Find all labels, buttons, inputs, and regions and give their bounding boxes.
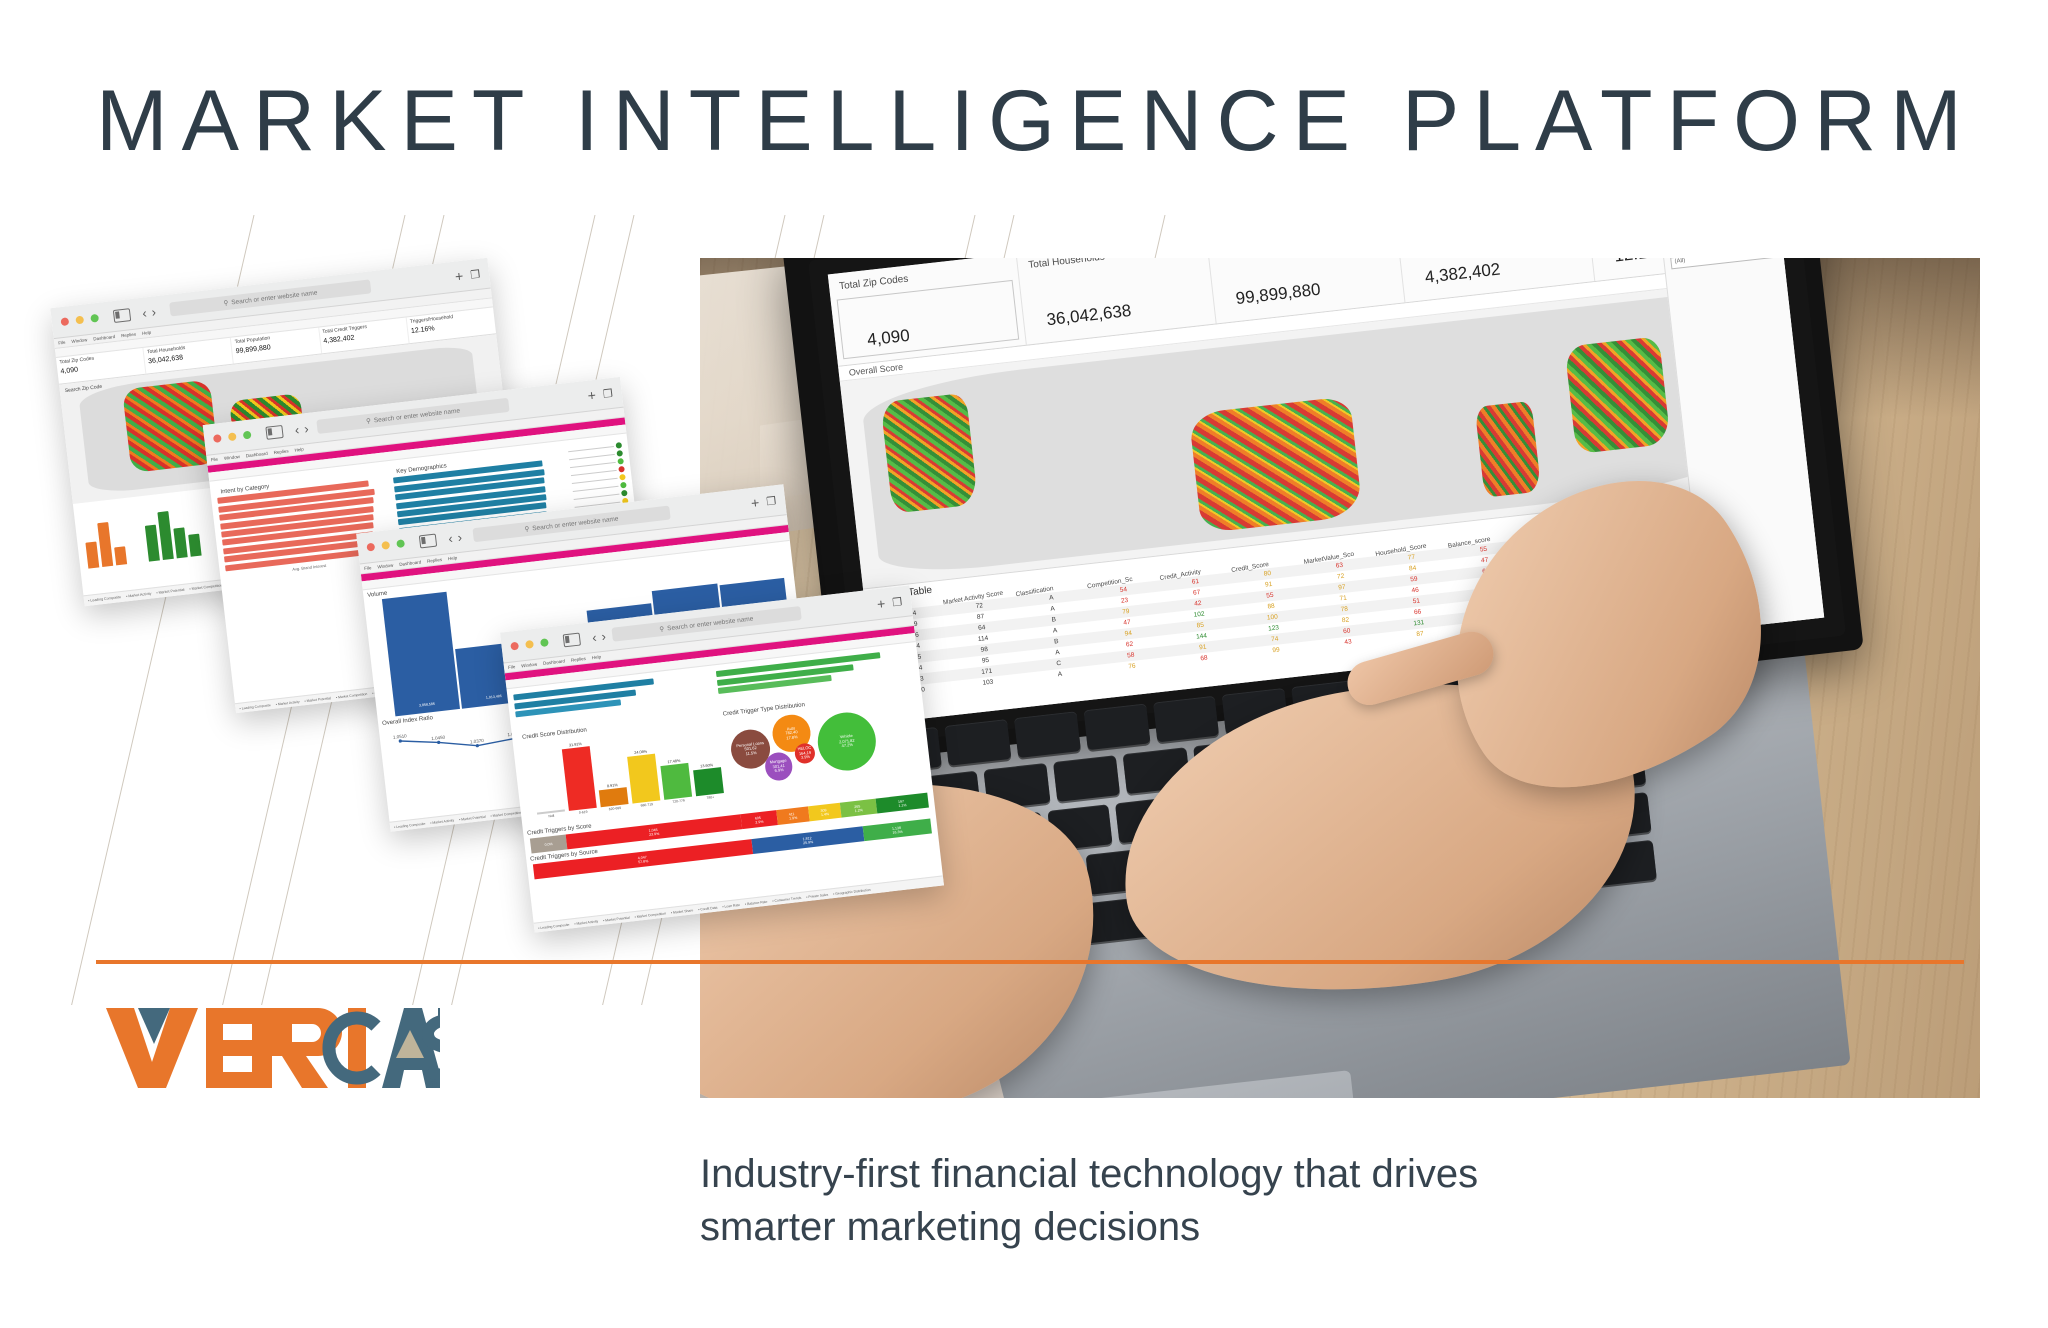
bar[interactable] xyxy=(562,746,597,811)
legend-item[interactable]: ▪ Private Sales xyxy=(806,892,828,899)
dot-marker[interactable] xyxy=(621,490,628,497)
stack-segment[interactable]: 0.0% xyxy=(530,834,567,853)
dot-marker[interactable] xyxy=(615,442,622,449)
legend-item[interactable]: ▪ Market Activity xyxy=(275,699,299,706)
map-cluster-southeast xyxy=(1564,336,1671,454)
menu-dashboard[interactable]: Dashboard xyxy=(543,658,565,665)
menu-replies[interactable]: Replies xyxy=(273,448,288,455)
menu-dashboard[interactable]: Dashboard xyxy=(93,334,115,341)
kpi-value: 36,042,638 xyxy=(1046,301,1133,330)
bar-column[interactable]: 17.48%720-779 xyxy=(656,724,693,805)
kpi-value: 4,382,402 xyxy=(1424,260,1501,288)
bubble-label: HELOC164,193.9% xyxy=(797,746,812,761)
dashboard-card-4[interactable]: ‹› ⚲ Search or enter website name + ❐ Fi… xyxy=(500,585,944,932)
menu-replies[interactable]: Replies xyxy=(427,557,442,564)
bar[interactable] xyxy=(599,787,629,807)
omnibox-placeholder: Search or enter website name xyxy=(667,615,754,632)
legend-item[interactable]: ▪ Market Share xyxy=(671,908,694,915)
menu-file[interactable]: File xyxy=(58,340,66,346)
tabs-icon[interactable]: ❐ xyxy=(602,386,613,400)
search-icon: ⚲ xyxy=(366,417,372,425)
svg-text:1.0450: 1.0450 xyxy=(431,735,446,742)
bar-category-label: 680-719 xyxy=(640,802,653,807)
close-icon[interactable] xyxy=(510,642,519,651)
new-tab-button[interactable]: + xyxy=(454,268,464,285)
new-tab-button[interactable]: + xyxy=(750,494,760,511)
bubble-label: Auto782,4017.8% xyxy=(785,726,799,741)
stack-segment[interactable]: 265 1.2% xyxy=(840,799,877,818)
menu-help[interactable]: Help xyxy=(448,555,458,561)
minimize-icon[interactable] xyxy=(381,541,390,550)
menu-help[interactable]: Help xyxy=(592,654,602,660)
bar[interactable] xyxy=(693,767,724,796)
new-tab-button[interactable]: + xyxy=(876,595,886,612)
divider-rule xyxy=(96,960,1964,964)
menu-replies[interactable]: Replies xyxy=(571,656,586,663)
page-title: MARKET INTELLIGENCE PLATFORM xyxy=(96,78,1976,164)
bar[interactable] xyxy=(660,763,692,800)
dot-marker[interactable] xyxy=(620,482,627,489)
zoom-icon[interactable] xyxy=(396,539,405,548)
omnibox-placeholder: Search or enter website name xyxy=(532,515,619,532)
kpi-label: Total Households xyxy=(1028,258,1198,271)
legend-item[interactable]: ▪ Market Competition xyxy=(634,911,666,919)
nav-arrows[interactable]: ‹› xyxy=(141,303,161,320)
menu-window[interactable]: Window xyxy=(71,337,87,344)
filter-table-score-color[interactable]: Table_Score_Color (All) xyxy=(1669,258,1778,269)
vericast-logo-svg: ® xyxy=(100,1000,440,1096)
legend-item[interactable]: ▪ Loan Rate xyxy=(722,902,740,908)
bubble[interactable]: Mortgage301,416.9% xyxy=(763,751,794,782)
omnibox-placeholder: Search or enter website name xyxy=(231,289,318,306)
close-icon[interactable] xyxy=(60,317,69,326)
search-icon: ⚲ xyxy=(524,525,530,533)
map-cluster-texas xyxy=(1188,396,1362,534)
dot-marker[interactable] xyxy=(616,450,623,457)
menu-file[interactable]: File xyxy=(210,457,218,463)
bar-value-label: 3,858,586 xyxy=(394,699,459,710)
stack-segment[interactable]: 309 1.4% xyxy=(808,803,842,822)
legend-item[interactable]: ▪ Market Potential xyxy=(603,915,630,922)
zoom-icon[interactable] xyxy=(540,638,549,647)
trademark-symbol: ® xyxy=(430,1080,438,1091)
stack-segment[interactable]: 605 2.9% xyxy=(740,810,777,829)
nav-arrows[interactable]: ‹› xyxy=(294,420,314,437)
bar-column[interactable]: 31.91%0-619 xyxy=(561,735,598,816)
menu-dashboard[interactable]: Dashboard xyxy=(399,559,421,566)
legend-item[interactable]: ▪ Market Activity xyxy=(574,919,598,926)
bubble-label: Vehicle2,071,8247.2% xyxy=(838,734,855,749)
legend-item[interactable]: ▪ Market Potential xyxy=(156,588,185,595)
dot-marker[interactable] xyxy=(619,474,626,481)
svg-text:1.0370: 1.0370 xyxy=(470,738,485,745)
kpi-value: 99,899,880 xyxy=(1235,280,1322,309)
sidebar-toggle-icon[interactable] xyxy=(265,424,283,439)
search-icon: ⚲ xyxy=(223,299,229,307)
omnibox-placeholder: Search or enter website name xyxy=(373,407,460,424)
new-tab-button[interactable]: + xyxy=(587,387,597,404)
map-cluster-florida xyxy=(1475,400,1542,497)
bar-category-label: 0-619 xyxy=(579,810,588,815)
bar-category-label: 620-699 xyxy=(609,806,622,811)
filter-value[interactable]: (All) xyxy=(1670,258,1778,269)
legend-item[interactable]: ▪ Market Activity xyxy=(430,818,454,825)
minimize-icon[interactable] xyxy=(525,640,534,649)
bar-category-label: 780+ xyxy=(706,795,714,800)
svg-text:1.0510: 1.0510 xyxy=(393,733,408,740)
zoom-icon[interactable] xyxy=(90,314,99,323)
bubble-label: Mortgage301,416.9% xyxy=(770,759,788,775)
bar-column[interactable]: 24.08%680-719 xyxy=(624,728,661,809)
dot-marker[interactable] xyxy=(617,458,624,465)
menu-window[interactable]: Window xyxy=(224,454,240,461)
volume-bar[interactable]: 3,858,586 xyxy=(382,592,460,717)
legend-item[interactable]: ▪ Market Potential xyxy=(304,696,331,703)
menu-file[interactable]: File xyxy=(508,664,516,670)
close-icon[interactable] xyxy=(366,543,375,552)
vericast-logo: ® xyxy=(100,1000,440,1100)
sidebar-toggle-icon[interactable] xyxy=(563,632,581,647)
sidebar-toggle-icon[interactable] xyxy=(113,308,131,323)
menu-dashboard[interactable]: Dashboard xyxy=(246,451,268,458)
close-icon[interactable] xyxy=(213,434,222,443)
map-cluster-california xyxy=(880,393,978,514)
bar-column[interactable]: 13.60%780+ xyxy=(688,720,725,801)
bar-column[interactable]: Null xyxy=(529,739,566,820)
tabs-icon[interactable]: ❐ xyxy=(892,595,903,609)
search-icon: ⚲ xyxy=(659,625,665,633)
menu-file[interactable]: File xyxy=(364,565,372,571)
minimize-icon[interactable] xyxy=(75,316,84,325)
menu-help[interactable]: Help xyxy=(142,330,152,336)
legend-item[interactable]: ▪ Leading Composite xyxy=(538,922,570,930)
tabs-icon[interactable]: ❐ xyxy=(470,267,481,281)
legend-item[interactable]: ▪ Market Competition xyxy=(490,810,522,818)
legend-item[interactable]: ▪ Market Potential xyxy=(459,814,486,821)
tagline-line-2: smarter marketing decisions xyxy=(700,1201,1900,1254)
dot-marker[interactable] xyxy=(618,466,625,473)
sidebar-toggle-icon[interactable] xyxy=(419,533,437,548)
minimize-icon[interactable] xyxy=(228,432,237,441)
slide-canvas: MARKET INTELLIGENCE PLATFORM Total Zip C… xyxy=(0,0,2048,1328)
bubble-label: Personal Loans501,6211.5% xyxy=(736,741,765,758)
zoom-icon[interactable] xyxy=(243,431,252,440)
tagline: Industry-first financial technology that… xyxy=(700,1148,1900,1254)
legend-item[interactable]: ▪ Credit Data xyxy=(698,905,718,911)
menu-help[interactable]: Help xyxy=(294,447,304,453)
legend-item[interactable]: ▪ Leading Composite xyxy=(239,703,271,711)
nav-arrows[interactable]: ‹› xyxy=(591,628,611,645)
menu-window[interactable]: Window xyxy=(521,662,537,669)
stack-segment[interactable]: 411 1.9% xyxy=(776,806,810,825)
bar[interactable] xyxy=(627,754,660,804)
legend-item[interactable]: ▪ Leading Composite xyxy=(394,821,426,829)
legend-item[interactable]: ▪ Market Activity xyxy=(126,592,152,599)
menu-window[interactable]: Window xyxy=(377,563,393,570)
legend-item[interactable]: ▪ Market Competition xyxy=(189,583,223,591)
bar-category-label: Null xyxy=(548,814,554,819)
bubble[interactable]: Vehicle2,071,8247.2% xyxy=(815,709,879,773)
legend-item[interactable]: ▪ Leading Composite xyxy=(88,595,121,603)
nav-arrows[interactable]: ‹› xyxy=(447,529,467,546)
bar-category-label: 720-779 xyxy=(672,799,685,804)
legend-item[interactable]: ▪ Geographic Distribution xyxy=(833,887,871,895)
tabs-icon[interactable]: ❐ xyxy=(766,494,777,508)
bubble[interactable]: HELOC164,193.9% xyxy=(794,742,816,764)
bar-column[interactable]: 8.91%620-699 xyxy=(592,732,629,813)
legend-item[interactable]: ▪ Market Competition xyxy=(336,691,368,699)
legend-item[interactable]: ▪ Balance Rate xyxy=(745,899,768,906)
menu-replies[interactable]: Replies xyxy=(121,332,136,339)
tagline-line-1: Industry-first financial technology that… xyxy=(700,1148,1900,1201)
legend-item[interactable]: ▪ Consumer Trends xyxy=(772,895,801,902)
